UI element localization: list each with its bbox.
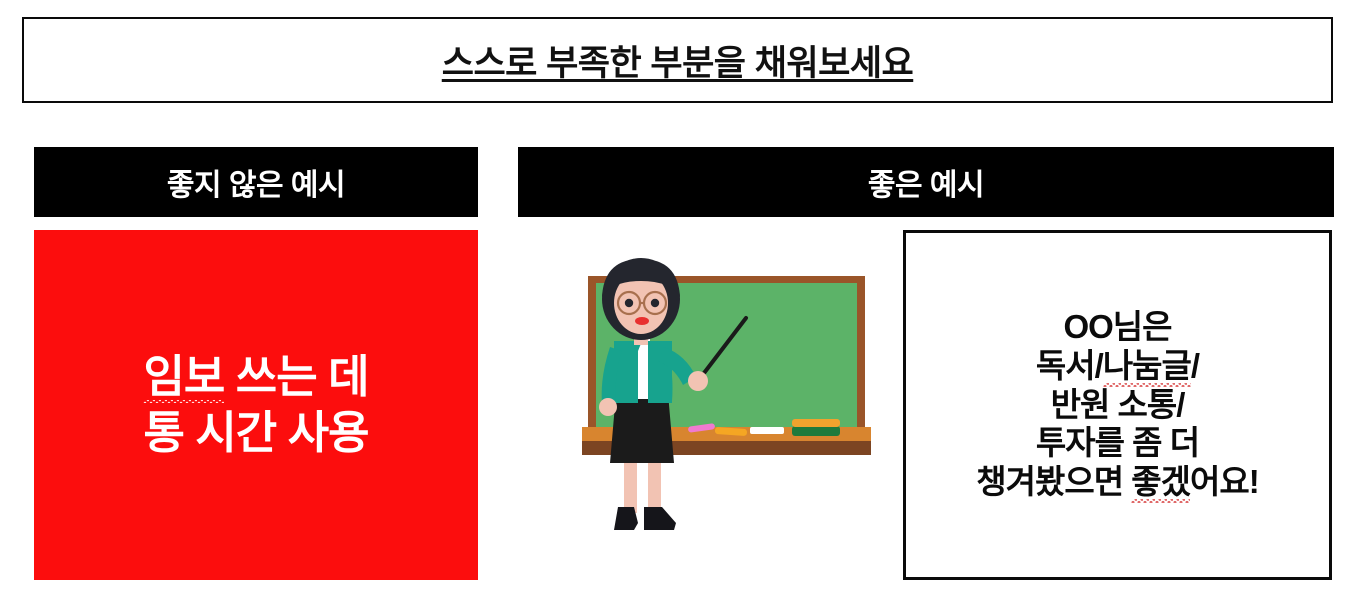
good-example-line-3: 반원 소통/: [1051, 386, 1185, 425]
good-example-line-4-text: 투자를 좀 더: [1036, 424, 1199, 461]
good-example-line-5-suffix: 어요!: [1190, 463, 1259, 500]
good-example-line-5-prefix: 챙겨봤으면: [976, 463, 1131, 500]
good-example-line-3-text: 반원 소통/: [1051, 386, 1185, 423]
good-example-line-2-suffix: /: [1191, 347, 1199, 384]
good-example-line-4: 투자를 좀 더: [1036, 424, 1199, 463]
page-title: 스스로 부족한 부분을 채워보세요: [442, 35, 913, 86]
bad-example-line-2-text: 통 시간 사용: [143, 407, 368, 458]
good-example-line-1: OO님은: [1063, 308, 1171, 347]
teacher-at-chalkboard-illustration: [560, 255, 880, 565]
good-example-line-2-prefix: 독서/: [1036, 347, 1103, 384]
bad-example-line-1-suffix: 쓰는 데: [224, 351, 368, 402]
title-banner: 스스로 부족한 부분을 채워보세요: [22, 17, 1333, 103]
good-example-line-5-spellcheck-word: 좋겠: [1131, 463, 1190, 502]
bad-example-header-label: 좋지 않은 예시: [167, 160, 345, 204]
good-example-box: OO님은 독서/나눔글/ 반원 소통/ 투자를 좀 더 챙겨봤으면 좋겠어요!: [903, 230, 1332, 580]
good-example-line-5: 챙겨봤으면 좋겠어요!: [976, 463, 1258, 502]
eraser-icon: [792, 419, 840, 436]
bad-example-box: 임보 쓰는 데 통 시간 사용: [34, 230, 478, 580]
good-example-line-2: 독서/나눔글/: [1036, 347, 1199, 386]
bad-example-header: 좋지 않은 예시: [34, 147, 478, 217]
good-example-line-2-spellcheck-word: 나눔글: [1103, 347, 1191, 386]
bad-example-line-1: 임보 쓰는 데: [143, 349, 368, 405]
good-example-header-label: 좋은 예시: [868, 160, 984, 204]
good-example-header: 좋은 예시: [518, 147, 1334, 217]
good-example-line-1-text: OO님은: [1063, 308, 1171, 345]
bad-example-spellcheck-word: 임보: [143, 349, 224, 405]
bad-example-line-2: 통 시간 사용: [143, 405, 368, 461]
